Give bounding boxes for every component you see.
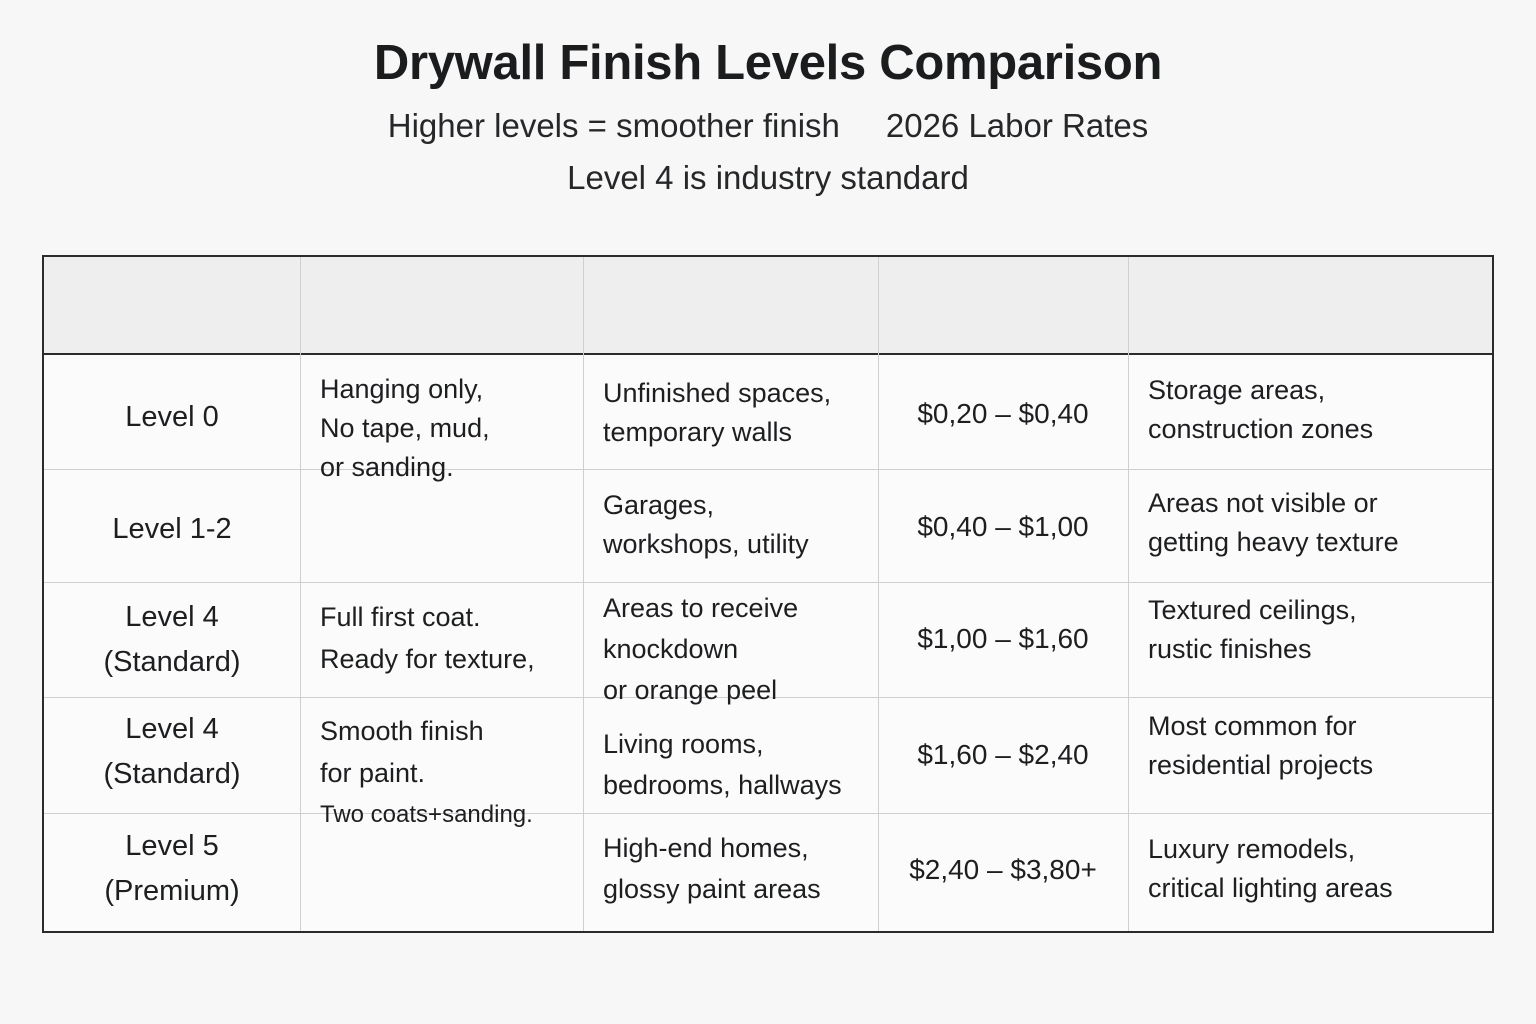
page-title: Drywall Finish Levels Comparison [0,0,1536,90]
cell-description-row-1-line-1: Hanging only, [320,370,620,408]
cell-best-for-row-2-line-1: Garages, [603,486,923,524]
row-divider-3-seg-a [44,697,300,698]
cell-typical-use-row-5-line-2: critical lighting areas [1148,869,1518,907]
column-divider-4 [1128,257,1129,931]
cell-labor-cost-row-3: $1,00 – $1,60 [878,619,1128,659]
row-divider-4-seg-d [879,813,1128,814]
cell-best-for-row-4-line-2: bedrooms, hallways [603,766,923,804]
row-divider-2-seg-e [1129,582,1492,583]
cell-best-for-row-3-line-2: knockdown [603,630,923,668]
cell-description-row-1-line-3: or sanding. [320,448,620,486]
cell-typical-use-row-1-line-1: Storage areas, [1148,371,1508,409]
cell-best-for-row-1-line-2: temporary walls [603,413,923,451]
cell-labor-cost-row-4: $1,60 – $2,40 [878,735,1128,775]
row-divider-4-seg-e [1129,813,1492,814]
cell-typical-use-row-2-line-2: getting heavy texture [1148,523,1508,561]
cell-finish-level-row-1: Level 0 [44,397,300,439]
table-header-row [44,257,1492,355]
cell-finish-level-row-2: Level 1-2 [44,509,300,551]
comparison-table: Finish Level Description Best For Labor … [42,255,1494,933]
cell-labor-cost-row-2: $0,40 – $1,00 [878,507,1128,547]
row-divider-1-seg-d [879,469,1128,470]
row-divider-3-seg-b [301,697,583,698]
row-divider-2-seg-c [584,582,878,583]
cell-typical-use-row-4-line-2: residential projects [1148,746,1508,784]
cell-description-row-4-line-2: for paint. [320,754,620,792]
cell-typical-use-row-3-line-2: rustic finishes [1148,630,1508,668]
cell-finish-level-row-3-line-2: (Standard) [44,642,300,684]
cell-finish-level-row-5-line-2: (Premium) [44,871,300,913]
subtitle-right: 2026 Labor Rates [886,107,1148,144]
cell-labor-cost-row-5: $2,40 – $3,80+ [878,850,1128,890]
row-divider-1-seg-e [1129,469,1492,470]
cell-finish-level-row-5-line-1: Level 5 [44,826,300,868]
cell-description-row-1-line-2: No tape, mud, [320,409,620,447]
cell-finish-level-row-4-line-1: Level 4 [44,709,300,751]
page-header: Drywall Finish Levels Comparison Higher … [0,0,1536,198]
cell-typical-use-row-1-line-2: construction zones [1148,410,1508,448]
cell-best-for-row-4-line-1: Living rooms, [603,725,923,763]
cell-typical-use-row-5-line-1: Luxury remodels, [1148,830,1518,868]
cell-best-for-row-3-line-1: Areas to receive [603,589,923,627]
cell-labor-cost-row-1: $0,20 – $0,40 [878,394,1128,434]
cell-best-for-row-3-line-3: or orange peel [603,671,923,709]
subtitle-line-1: Higher levels = smoother finish2026 Labo… [0,107,1536,146]
row-divider-2-seg-a [44,582,300,583]
cell-best-for-row-5-line-1: High-end homes, [603,829,923,867]
cell-description-row-4-line-3: Two coats+sanding. [320,798,640,832]
cell-finish-level-row-3-line-1: Level 4 [44,597,300,639]
cell-typical-use-row-4-line-1: Most common for [1148,707,1508,745]
row-divider-2-seg-d [879,582,1128,583]
cell-typical-use-row-3-line-1: Textured ceilings, [1148,591,1508,629]
cell-typical-use-row-2-line-1: Areas not visible or [1148,484,1508,522]
subtitle-left: Higher levels = smoother finish [388,107,840,144]
cell-description-row-3-line-2: Ready for texture, [320,640,620,678]
row-divider-2-seg-b [301,582,583,583]
cell-description-row-3-line-1: Full first coat. [320,598,620,636]
row-divider-1-seg-c [584,469,878,470]
cell-best-for-row-1-line-1: Unfinished spaces, [603,374,923,412]
subtitle-line-2: Level 4 is industry standard [0,159,1536,198]
row-divider-1-seg-a [44,469,300,470]
column-divider-1 [300,257,301,931]
cell-best-for-row-2-line-2: workshops, utility [603,525,923,563]
row-divider-3-seg-e [1129,697,1492,698]
cell-description-row-4-line-1: Smooth finish [320,712,620,750]
cell-best-for-row-5-line-2: glossy paint areas [603,870,923,908]
cell-finish-level-row-4-line-2: (Standard) [44,754,300,796]
row-divider-4-seg-a [44,813,300,814]
